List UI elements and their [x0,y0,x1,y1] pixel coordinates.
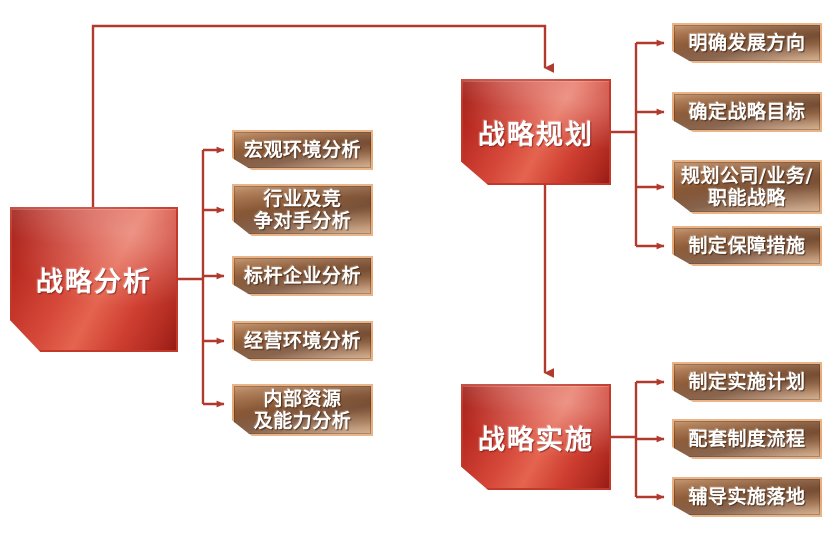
sub-label: 宏观环境分析 [244,139,361,161]
sub-node-analysis-3[interactable]: 经营环境分析 [232,321,373,361]
stage-node-analysis[interactable]: 战略分析 [10,207,178,352]
sub-node-implementation-1[interactable]: 配套制度流程 [672,419,822,459]
sub-label: 规划公司/业务/ 职能战略 [681,165,813,210]
sub-node-implementation-2[interactable]: 辅导实施落地 [672,477,822,517]
sub-node-analysis-2[interactable]: 标杆企业分析 [232,256,373,296]
stage-node-implementation[interactable]: 战略实施 [461,384,611,490]
stage-label-analysis: 战略分析 [36,260,152,299]
stage-label-planning: 战略规划 [478,113,594,152]
sub-node-planning-2[interactable]: 规划公司/业务/ 职能战略 [672,160,822,214]
stage-node-planning[interactable]: 战略规划 [461,79,611,185]
sub-label: 辅导实施落地 [688,486,805,508]
sub-label: 内部资源 及能力分析 [254,388,352,433]
stage-label-implementation: 战略实施 [478,418,594,457]
sub-node-analysis-4[interactable]: 内部资源 及能力分析 [232,384,373,436]
sub-label: 制定实施计划 [688,371,805,393]
sub-label: 制定保障措施 [688,235,805,257]
sub-node-implementation-0[interactable]: 制定实施计划 [672,362,822,402]
sub-label: 确定战略目标 [688,101,805,123]
sub-label: 行业及竞 争对手分析 [254,188,352,233]
sub-node-planning-3[interactable]: 制定保障措施 [672,226,822,266]
strategy-flow-diagram: 战略分析 宏观环境分析 行业及竞 争对手分析 标杆企业分析 经营环境分析 内部资… [0,0,831,537]
sub-node-analysis-1[interactable]: 行业及竞 争对手分析 [232,184,373,236]
connector-implementation-branches [611,382,664,497]
sub-label: 经营环境分析 [244,330,361,352]
sub-label: 标杆企业分析 [244,265,361,287]
connector-planning-branches [611,43,664,246]
sub-node-analysis-0[interactable]: 宏观环境分析 [232,130,373,170]
sub-node-planning-1[interactable]: 确定战略目标 [672,92,822,132]
sub-label: 明确发展方向 [688,32,805,54]
connector-analysis-branches [178,150,224,404]
sub-node-planning-0[interactable]: 明确发展方向 [672,23,822,63]
sub-label: 配套制度流程 [688,428,805,450]
